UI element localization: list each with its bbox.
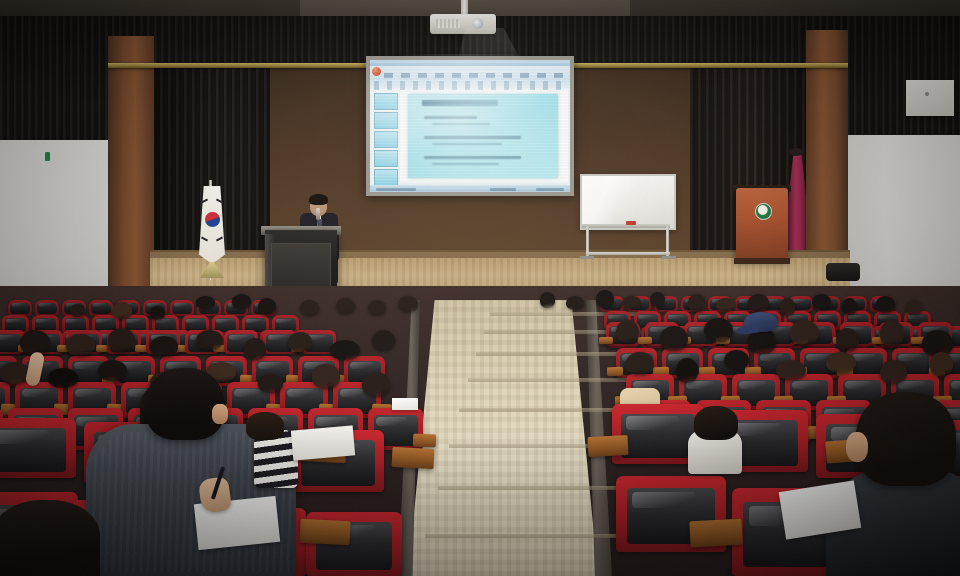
note-taker-ear — [212, 404, 228, 424]
lectern-base — [734, 258, 790, 264]
attendee-head — [112, 302, 132, 319]
whiteboard-foot — [580, 256, 594, 259]
attendee-head — [930, 352, 953, 376]
attendee-head — [622, 296, 641, 309]
attendee-head — [880, 360, 907, 384]
projector-lens-icon — [472, 18, 483, 29]
attendee-head — [258, 374, 283, 393]
attendee-head — [368, 300, 386, 315]
whiteboard-sheen — [582, 176, 670, 224]
striped-attendee-head — [246, 412, 284, 440]
attendee-head — [66, 334, 95, 356]
attendee-head — [790, 320, 819, 345]
screen-projection-softness — [370, 60, 570, 192]
whiteboard-foot — [662, 256, 676, 259]
attendee-head — [288, 332, 312, 352]
attendee-head — [312, 364, 340, 389]
taeguk-circle-icon — [205, 212, 220, 227]
fold-out-writing-tablet[interactable] — [598, 337, 612, 345]
fold-out-writing-tablet[interactable] — [392, 447, 435, 469]
attendee-head — [650, 292, 665, 307]
seat-back-pad — [10, 303, 29, 315]
attendee-right-ear — [846, 432, 868, 462]
attendee-head — [196, 330, 223, 350]
floor-bag — [826, 263, 860, 281]
attendee-head — [842, 298, 857, 315]
whiteboard-marker — [626, 221, 636, 225]
attendee-head — [716, 298, 736, 311]
projector-vent — [436, 19, 460, 28]
attendee-head — [704, 318, 733, 342]
attendee-head — [48, 368, 78, 388]
fold-out-writing-tablet[interactable] — [689, 519, 742, 548]
drape-tieback — [789, 148, 803, 156]
attendee-head — [336, 298, 355, 314]
aisle-step — [468, 378, 642, 382]
fold-out-writing-tablet[interactable] — [588, 435, 629, 457]
attendee-head — [244, 338, 266, 360]
attendee-head — [748, 294, 769, 312]
fold-out-writing-tablet[interactable] — [637, 337, 651, 345]
seat-back-pad — [172, 303, 191, 315]
attendee-head — [812, 294, 831, 310]
attendee-head — [596, 290, 614, 308]
attendee-head — [724, 350, 749, 370]
whiteboard-crossbar — [586, 252, 670, 255]
seat-back-pad — [621, 414, 695, 458]
attendee-head — [906, 300, 922, 315]
attendee-head — [826, 352, 856, 373]
attendee-head — [540, 292, 555, 308]
attendee-head — [362, 372, 390, 397]
attendee-head — [70, 304, 85, 317]
presenter-hair — [309, 194, 328, 205]
wooden-lectern — [736, 188, 788, 260]
attendee-head — [688, 294, 706, 312]
attendee-head — [232, 294, 251, 309]
attendee-head — [300, 300, 319, 316]
fold-out-writing-tablet[interactable] — [413, 434, 437, 447]
attendee-head — [372, 330, 395, 351]
attendee-head — [20, 330, 50, 355]
attendee-head — [776, 360, 806, 380]
handheld-microphone — [316, 208, 320, 220]
attendee-head — [780, 298, 795, 316]
attendee-head — [676, 358, 698, 383]
attendee-head — [880, 320, 904, 347]
attendee-right-foreground-head — [856, 392, 956, 486]
striped-attendee-paper — [291, 425, 355, 460]
institution-emblem-icon — [755, 203, 772, 220]
handout-paper — [392, 398, 418, 410]
attendee-head — [660, 326, 688, 351]
attendee-head — [330, 340, 360, 360]
seat-back-pad — [91, 303, 110, 315]
attendee-bottom-left-head — [0, 500, 100, 576]
attendee-head — [876, 296, 895, 313]
exit-sign-icon — [45, 152, 50, 161]
auditorium-photograph — [0, 0, 960, 576]
attendee-head — [150, 336, 178, 357]
attendee-light-shirt-head — [694, 406, 738, 440]
attendee-head — [108, 328, 135, 353]
attendee-head — [196, 296, 215, 309]
seat-back-pad — [0, 428, 66, 472]
attendee-head — [616, 320, 639, 343]
attendee-head — [836, 328, 859, 351]
seat-back-pad — [37, 303, 56, 315]
attendee-head — [258, 298, 276, 315]
fold-out-writing-tablet[interactable] — [607, 366, 624, 376]
attendee-head — [626, 352, 654, 375]
loudspeaker-screw — [925, 92, 929, 96]
attendee-head — [398, 296, 418, 312]
attendee-head — [98, 360, 127, 381]
fold-out-writing-tablet[interactable] — [299, 519, 350, 546]
wall-loudspeaker — [906, 80, 954, 116]
note-taker-head — [146, 368, 224, 440]
